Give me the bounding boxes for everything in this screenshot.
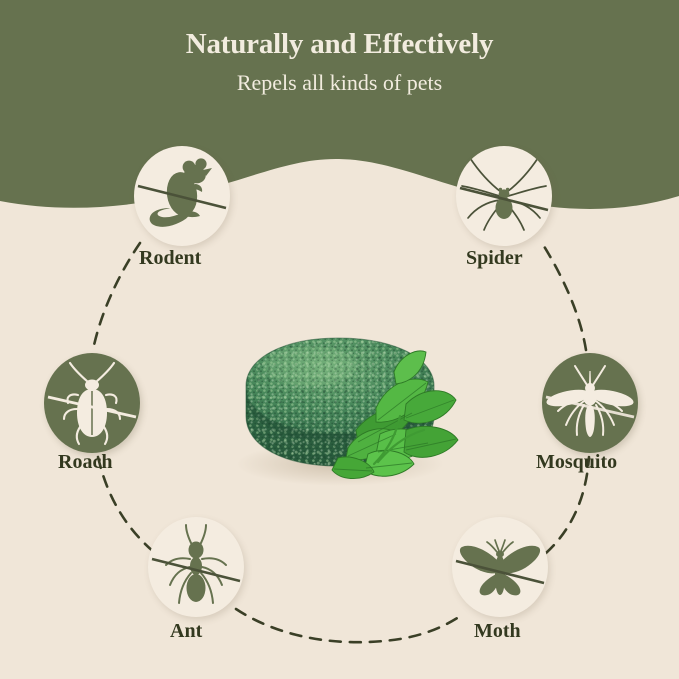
connector-ant-moth	[236, 609, 462, 642]
moth-icon	[452, 517, 548, 617]
connector-rodent-roach	[93, 243, 140, 350]
product-image	[228, 312, 460, 492]
badge-roach[interactable]	[44, 353, 140, 453]
mosquito-icon	[542, 353, 638, 453]
badge-label-moth: Moth	[474, 620, 521, 643]
badge-label-rodent: Rodent	[139, 247, 201, 270]
spider-icon	[456, 146, 552, 246]
badge-ant[interactable]	[148, 517, 244, 617]
badge-mosquito[interactable]	[542, 353, 638, 453]
badge-spider[interactable]	[456, 146, 552, 246]
badge-rodent[interactable]	[134, 146, 230, 246]
badge-label-spider: Spider	[466, 247, 523, 270]
badge-label-ant: Ant	[170, 620, 202, 643]
badge-moth[interactable]	[452, 517, 548, 617]
product-infographic: Naturally and Effectively Repels all kin…	[0, 0, 679, 679]
roach-icon	[44, 353, 140, 453]
ant-icon	[148, 517, 244, 617]
connector-mosquito-spider	[542, 243, 586, 350]
badge-label-roach: Roach	[58, 451, 112, 474]
rodent-icon	[134, 146, 230, 246]
badge-label-mosquito: Mosquito	[536, 451, 617, 474]
